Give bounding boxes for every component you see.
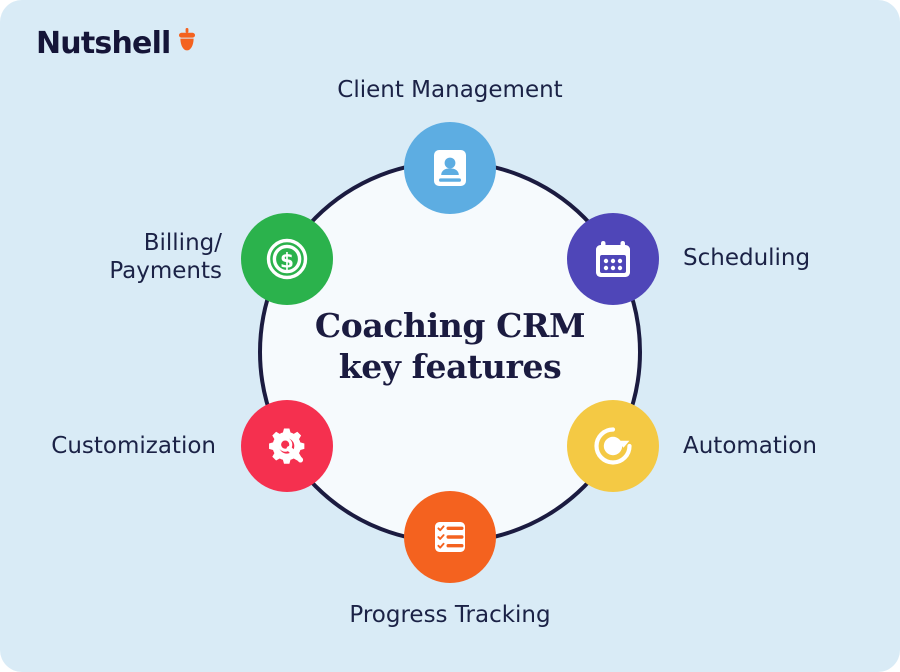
checklist-icon <box>426 513 474 561</box>
node-billing-payments[interactable]: $ <box>241 213 333 305</box>
node-automation[interactable] <box>567 400 659 492</box>
contact-card-icon <box>426 144 474 192</box>
node-client-management[interactable] <box>404 122 496 214</box>
wheel-center-title: Coaching CRM key features <box>280 305 620 388</box>
node-label-scheduling: Scheduling <box>683 244 893 272</box>
node-customization[interactable] <box>241 400 333 492</box>
svg-text:$: $ <box>280 248 294 272</box>
node-label-billing-payments: Billing/ Payments <box>16 229 222 285</box>
node-label-automation: Automation <box>683 432 893 460</box>
feature-wheel: Coaching CRM key features Client Managem… <box>0 0 900 672</box>
calendar-icon <box>590 236 636 282</box>
node-label-progress-tracking: Progress Tracking <box>300 601 600 629</box>
infographic-canvas: Nutshell Coaching CRM key features <box>0 0 900 672</box>
node-label-client-management: Client Management <box>300 76 600 104</box>
node-scheduling[interactable] <box>567 213 659 305</box>
node-progress-tracking[interactable] <box>404 491 496 583</box>
dollar-coin-icon: $ <box>262 234 312 284</box>
node-label-customization: Customization <box>16 432 216 460</box>
refresh-arrow-icon <box>589 422 637 470</box>
gear-wrench-icon <box>263 422 311 470</box>
